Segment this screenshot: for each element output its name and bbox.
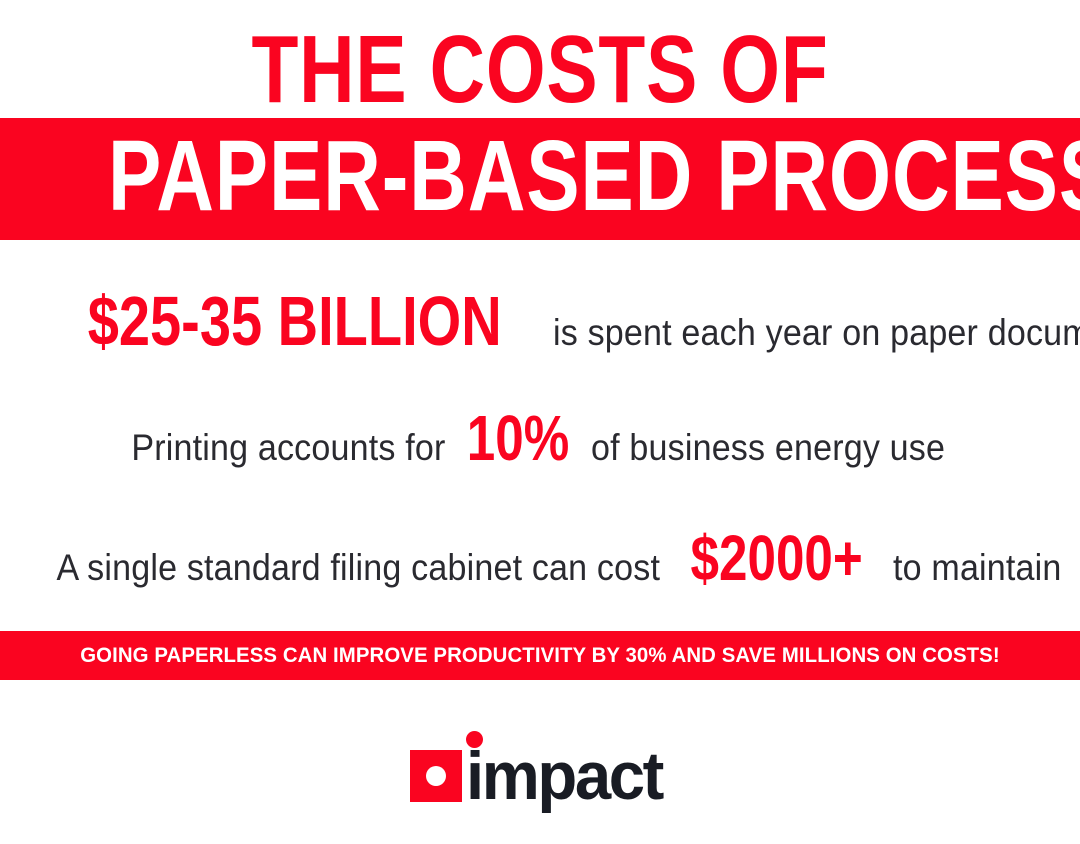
- brand-logo: impact: [0, 722, 1080, 812]
- infographic-canvas: THE COSTS OF PAPER-BASED PROCESSES $25-3…: [0, 0, 1080, 844]
- stat-text-before: Printing accounts for: [131, 427, 445, 469]
- stat-text-after: to maintain: [893, 547, 1062, 589]
- stat-highlight-value: $2000+: [690, 530, 862, 586]
- white-circle-icon: [426, 766, 446, 786]
- red-dot-icon: [466, 731, 483, 748]
- stat-text-before: A single standard filing cabinet can cos…: [56, 547, 660, 589]
- logo-inner: impact: [410, 731, 670, 803]
- stat-row: Printing accounts for 10% of business en…: [0, 410, 1080, 469]
- red-square-with-white-circle-icon: [410, 750, 462, 802]
- page-title-line-1: THE COSTS OF: [108, 22, 972, 118]
- call-to-action-text: GOING PAPERLESS CAN IMPROVE PRODUCTIVITY…: [80, 644, 1000, 668]
- call-to-action-banner: GOING PAPERLESS CAN IMPROVE PRODUCTIVITY…: [0, 631, 1080, 680]
- stat-highlight-value: $25-35 BILLION: [88, 290, 502, 352]
- logo-wordmark: impact: [466, 749, 662, 803]
- header-block: THE COSTS OF PAPER-BASED PROCESSES: [0, 0, 1080, 242]
- stat-row: $25-35 BILLION is spent each year on pap…: [0, 290, 1080, 354]
- statistics-area: $25-35 BILLION is spent each year on pap…: [0, 242, 1080, 631]
- stat-text-after: is spent each year on paper document man…: [553, 312, 1080, 354]
- stat-row: A single standard filing cabinet can cos…: [0, 530, 1080, 589]
- stat-highlight-value: 10%: [467, 410, 569, 466]
- stat-text-after: of business energy use: [591, 427, 945, 469]
- page-title-line-2: PAPER-BASED PROCESSES: [108, 126, 972, 226]
